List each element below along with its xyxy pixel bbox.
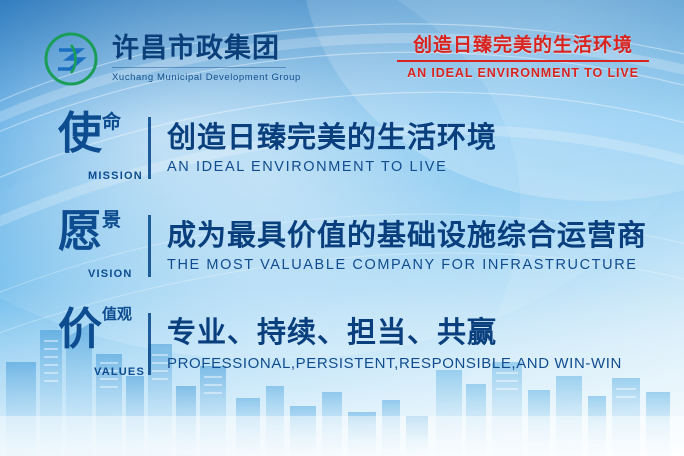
vision-tag-cn-big: 愿 xyxy=(58,206,101,257)
values-tag-cn-small: 值观 xyxy=(102,305,132,323)
slogan-cn: 创造日臻完美的生活环境 xyxy=(388,30,658,57)
values-tag-en: VALUES xyxy=(94,366,145,378)
slogan-underline xyxy=(397,60,649,62)
vision-tag: 愿景 VISION xyxy=(58,210,144,282)
vision-tag-cn: 愿景 xyxy=(58,210,144,254)
mission-tag: 使命 MISSION xyxy=(58,112,144,184)
mission-text-cn: 创造日臻完美的生活环境 xyxy=(167,121,684,154)
slogan-en: AN IDEAL ENVIRONMENT TO LIVE xyxy=(388,66,658,80)
values-tag-cn-big: 价 xyxy=(58,304,101,355)
headline-slogan: 创造日臻完美的生活环境 AN IDEAL ENVIRONMENT TO LIVE xyxy=(388,30,658,80)
list-item-vision: 愿景 VISION 成为最具价值的基础设施综合运营商 THE MOST VALU… xyxy=(0,204,684,288)
brand-text-block: 许昌市政集团 Xuchang Municipal Development Gro… xyxy=(112,35,301,82)
mission-text-en: AN IDEAL ENVIRONMENT TO LIVE xyxy=(167,159,684,175)
xuchang-monogram-logo-icon xyxy=(44,32,98,86)
vision-tag-en: VISION xyxy=(88,268,133,280)
vision-text-en: THE MOST VALUABLE COMPANY FOR INFRASTRUC… xyxy=(167,257,684,273)
mission-tag-cn-big: 使 xyxy=(58,108,101,159)
company-name-cn: 许昌市政集团 xyxy=(112,35,301,63)
values-text-en: PROFESSIONAL,PERSISTENT,RESPONSIBLE,AND … xyxy=(167,355,684,372)
mission-tag-en: MISSION xyxy=(88,170,143,182)
mission-tag-cn-small: 命 xyxy=(102,111,121,133)
mission-tag-cn: 使命 xyxy=(58,112,144,156)
values-tag: 价值观 VALUES xyxy=(58,308,144,380)
logo-divider xyxy=(112,67,286,68)
vision-divider xyxy=(148,215,151,277)
values-tag-cn: 价值观 xyxy=(58,308,144,352)
values-divider xyxy=(148,313,151,375)
poster-canvas: 许昌市政集团 Xuchang Municipal Development Gro… xyxy=(0,0,684,456)
company-name-en: Xuchang Municipal Development Group xyxy=(112,72,301,83)
vision-tag-cn-small: 景 xyxy=(102,209,121,231)
brand-logo-row: 许昌市政集团 Xuchang Municipal Development Gro… xyxy=(44,32,301,86)
value-statement-list: 使命 MISSION 创造日臻完美的生活环境 AN IDEAL ENVIRONM… xyxy=(0,106,684,400)
mission-texts: 创造日臻完美的生活环境 AN IDEAL ENVIRONMENT TO LIVE xyxy=(167,121,684,175)
mission-divider xyxy=(148,117,151,179)
vision-text-cn: 成为最具价值的基础设施综合运营商 xyxy=(167,219,684,252)
list-item-values: 价值观 VALUES 专业、持续、担当、共赢 PROFESSIONAL,PERS… xyxy=(0,302,684,386)
values-texts: 专业、持续、担当、共赢 PROFESSIONAL,PERSISTENT,RESP… xyxy=(167,316,684,371)
list-item-mission: 使命 MISSION 创造日臻完美的生活环境 AN IDEAL ENVIRONM… xyxy=(0,106,684,190)
values-text-cn: 专业、持续、担当、共赢 xyxy=(167,316,684,349)
vision-texts: 成为最具价值的基础设施综合运营商 THE MOST VALUABLE COMPA… xyxy=(167,219,684,273)
